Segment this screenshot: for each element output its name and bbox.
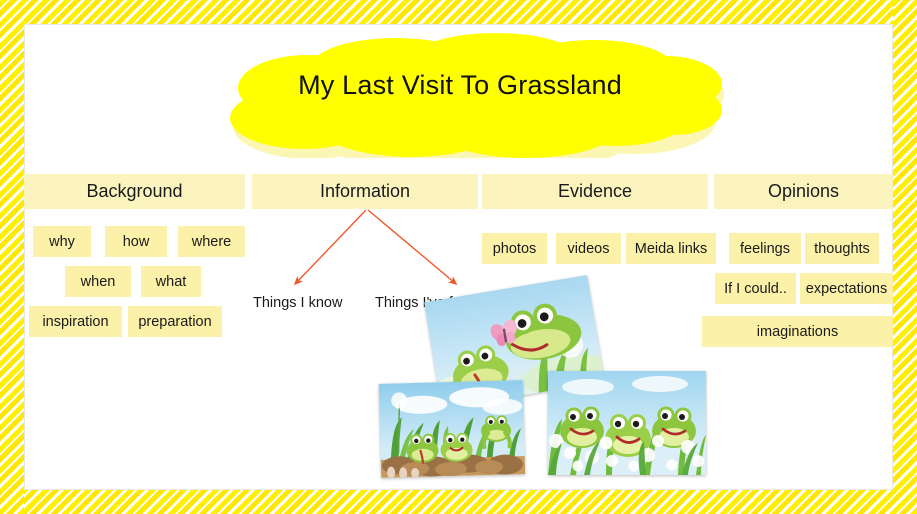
tag-preparation[interactable]: preparation <box>128 306 222 337</box>
tag-label: how <box>123 234 150 250</box>
tag-imaginations[interactable]: imaginations <box>702 316 893 347</box>
frame-right-border <box>893 0 917 514</box>
column-header-label: Information <box>320 181 410 202</box>
slide-canvas: My Last Visit To Grassland Background In… <box>0 0 917 514</box>
column-header-information[interactable]: Information <box>252 174 478 209</box>
column-header-background[interactable]: Background <box>24 174 245 209</box>
tag-how[interactable]: how <box>105 226 167 257</box>
tag-label: inspiration <box>42 314 108 330</box>
tag-label: thoughts <box>814 241 870 257</box>
tag-when[interactable]: when <box>65 266 131 297</box>
tag-label: photos <box>493 241 537 257</box>
tag-inspiration[interactable]: inspiration <box>29 306 122 337</box>
tag-label: what <box>156 274 187 290</box>
tag-why[interactable]: why <box>33 226 91 257</box>
frame-bottom-border <box>0 490 917 514</box>
frame-top-border <box>0 0 917 24</box>
tag-thoughts[interactable]: thoughts <box>805 233 879 264</box>
three-frogs-in-flowers-photo[interactable] <box>548 371 706 475</box>
tag-what[interactable]: what <box>141 266 201 297</box>
tag-media-links[interactable]: Meida links <box>626 233 716 264</box>
tag-expectations[interactable]: expectations <box>800 273 893 304</box>
frogs-on-rocks-photo[interactable] <box>379 380 525 478</box>
tag-label: where <box>192 234 232 250</box>
tag-label: videos <box>568 241 610 257</box>
column-header-label: Background <box>86 181 182 202</box>
branch-label: Things I know <box>253 295 342 311</box>
tag-if-i-could[interactable]: If I could.. <box>715 273 796 304</box>
frame-left-border <box>0 0 24 514</box>
column-header-label: Opinions <box>768 181 839 202</box>
tag-label: when <box>81 274 116 290</box>
tag-feelings[interactable]: feelings <box>729 233 801 264</box>
tag-label: If I could.. <box>724 281 787 297</box>
tag-label: imaginations <box>757 324 838 340</box>
tag-label: feelings <box>740 241 790 257</box>
column-header-label: Evidence <box>558 181 632 202</box>
tag-label: expectations <box>806 281 887 297</box>
tag-photos[interactable]: photos <box>482 233 547 264</box>
column-header-opinions[interactable]: Opinions <box>714 174 893 209</box>
title-cloud[interactable]: My Last Visit To Grassland <box>196 26 724 158</box>
tag-label: Meida links <box>635 241 708 257</box>
tag-where[interactable]: where <box>178 226 245 257</box>
tag-label: preparation <box>138 314 211 330</box>
tag-videos[interactable]: videos <box>556 233 621 264</box>
branch-label-things-i-know[interactable]: Things I know <box>253 295 342 311</box>
column-header-evidence[interactable]: Evidence <box>482 174 708 209</box>
tag-label: why <box>49 234 75 250</box>
slide-title: My Last Visit To Grassland <box>196 26 724 144</box>
